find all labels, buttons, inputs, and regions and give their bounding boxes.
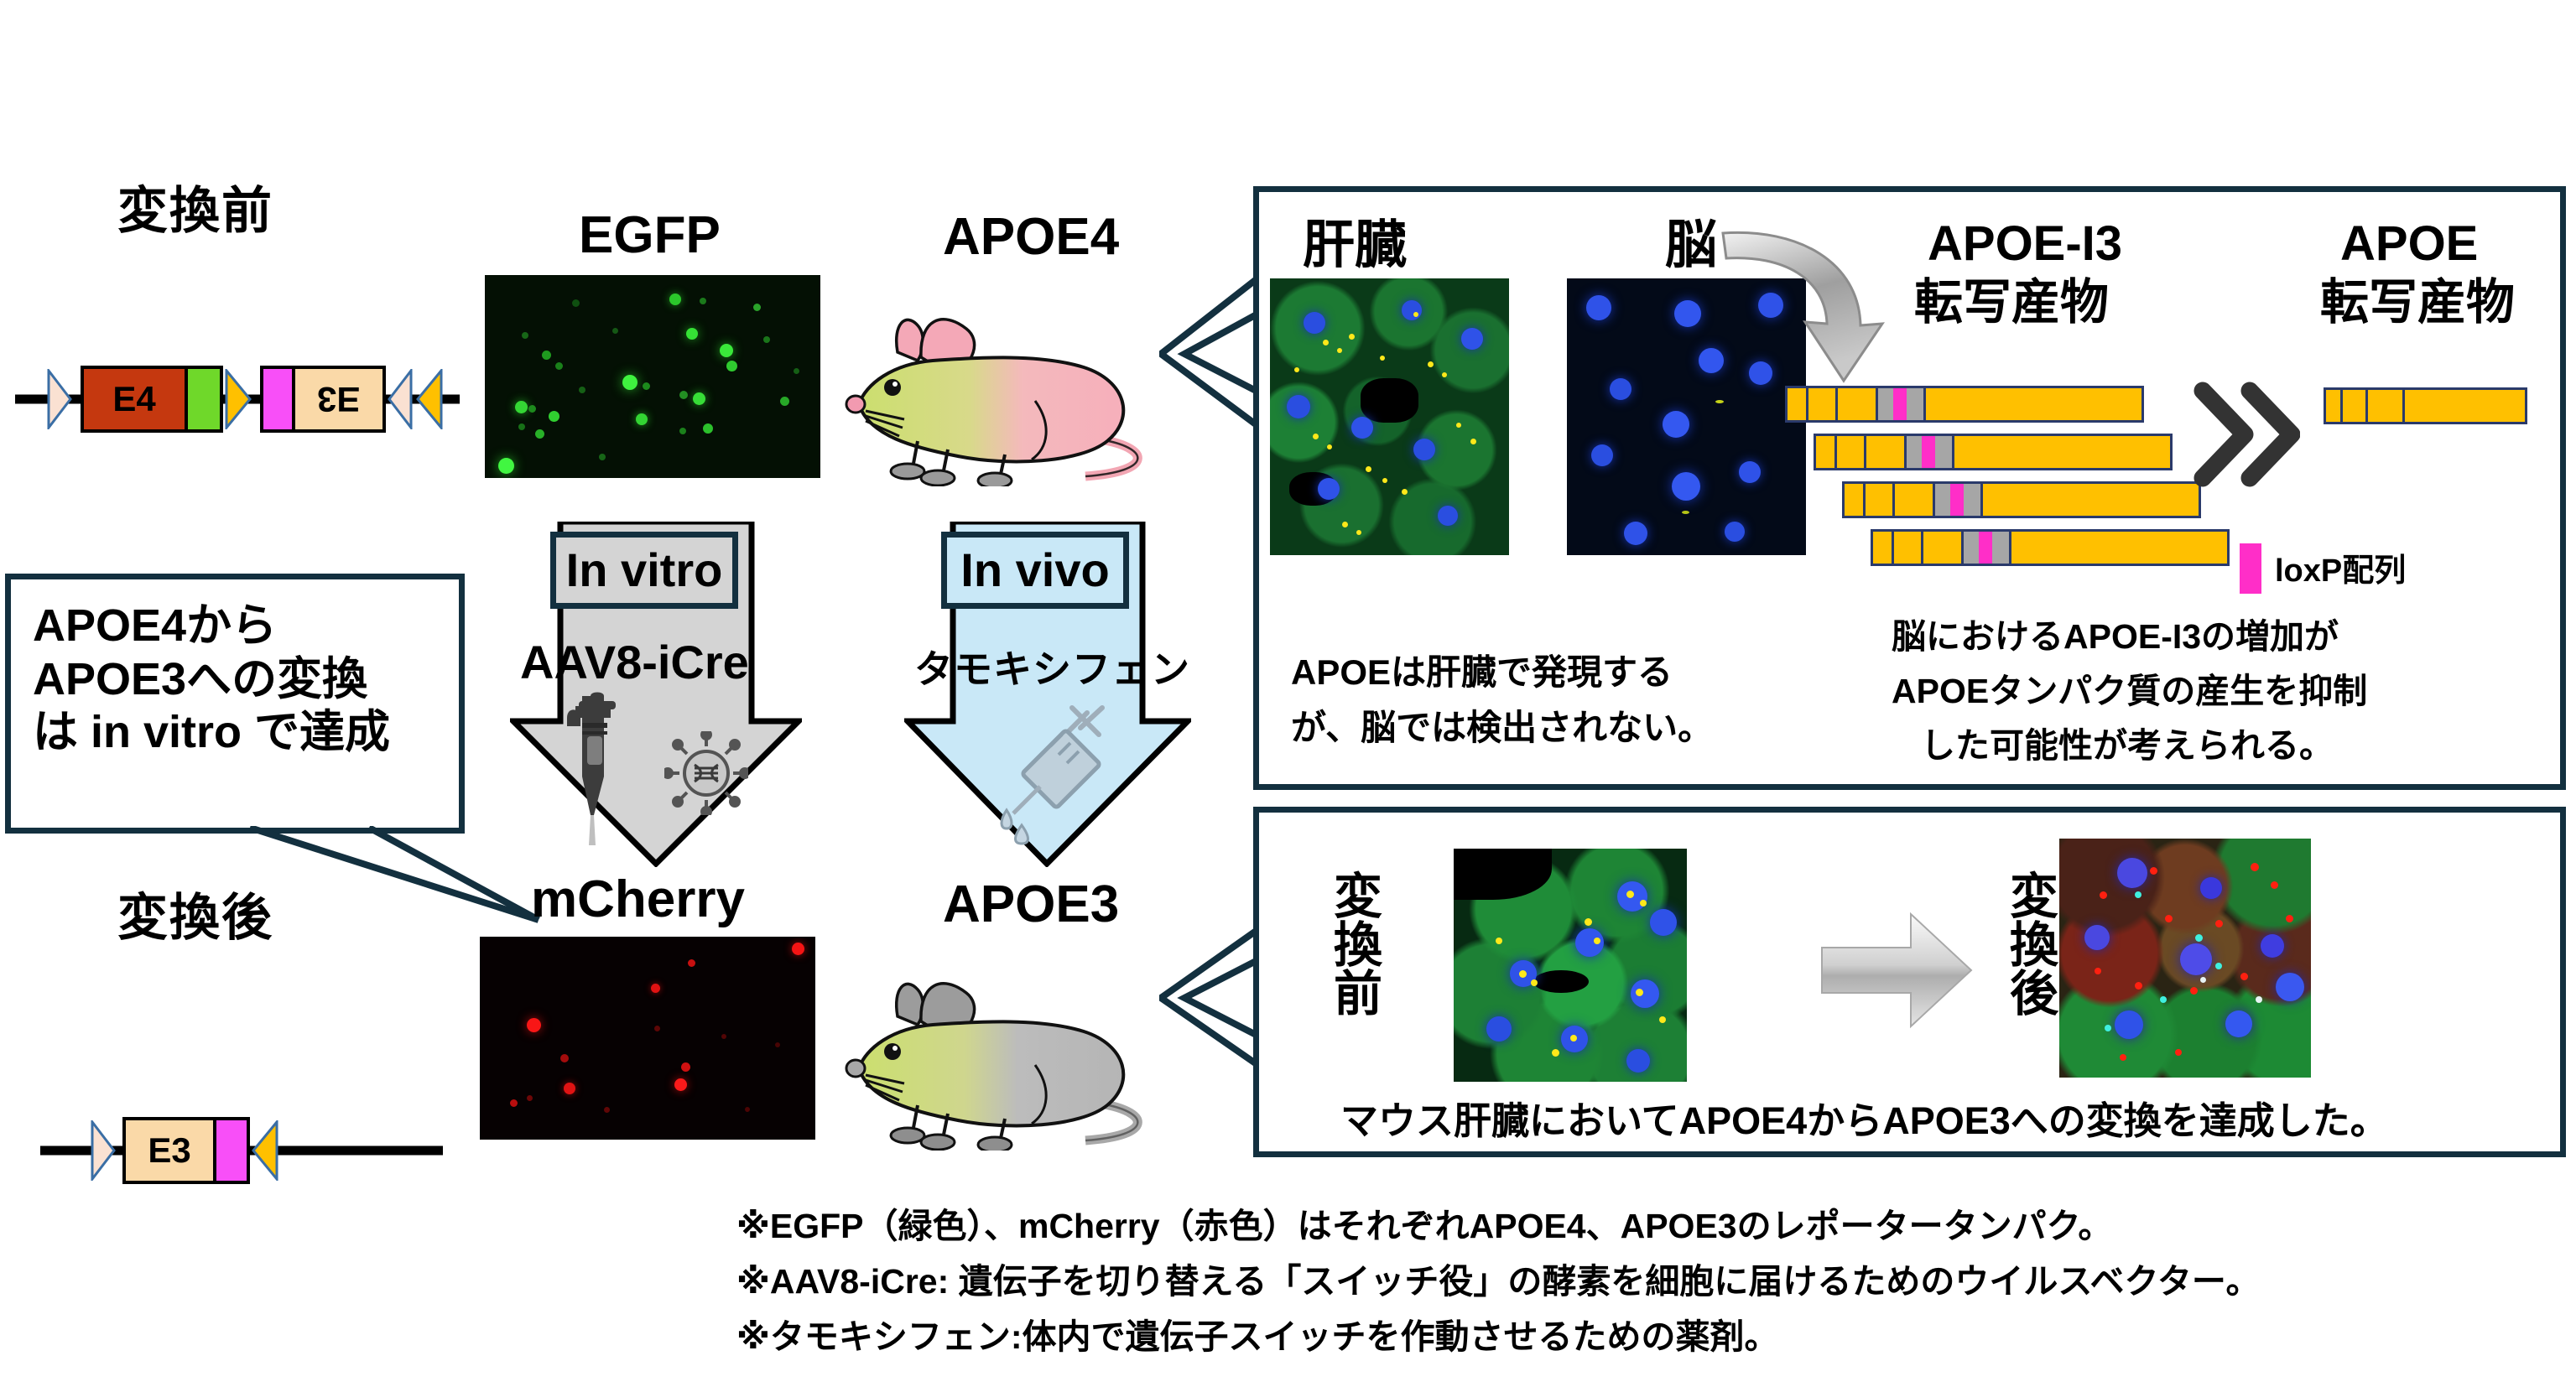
transcript-bar-apoe — [2324, 387, 2527, 424]
badge-in-vitro: In vitro — [550, 532, 738, 609]
callout-line-2: APOE3への変換 — [11, 653, 459, 707]
pipette-icon — [560, 689, 653, 849]
image-mcherry-fluorescence — [480, 937, 815, 1140]
virus-icon — [664, 731, 748, 815]
caption-apoe-i3-line2: APOEタンパク質の産生を抑制 — [1892, 662, 2367, 713]
image-liver-confocal — [1270, 278, 1509, 555]
loxp-triangle-orange-1 — [225, 369, 252, 429]
exon-e4-label: E4 — [112, 382, 155, 417]
footnote-2: ※AAV8-iCre: 遺伝子を切り替える「スイッチ役」の酵素を細胞に届けるため… — [736, 1256, 2260, 1308]
caption-apoe-liver-line1: APOEは肝臓で発現する — [1291, 644, 1673, 695]
curved-arrow-to-transcripts — [1718, 225, 1911, 392]
callout-tail-invitro — [243, 826, 545, 927]
title-apoe-i3-line2: 転写産物 — [1914, 278, 2109, 327]
exon-e3-box-after: E3 — [122, 1117, 216, 1184]
badge-in-vivo: In vivo — [941, 532, 1129, 609]
exon-e3-label-after: E3 — [148, 1133, 190, 1168]
image-liver-after-conversion — [2059, 839, 2311, 1078]
reporter-egfp-segment — [188, 366, 223, 433]
figure-canvas: 変換前 E4 Ǝ3 APOE4から APOE3への — [0, 0, 2576, 1387]
reporter-mcherry-segment — [260, 366, 292, 433]
transcript-bar-4 — [1871, 529, 2230, 566]
label-aav8-icre: AAV8-iCre — [520, 639, 749, 686]
loxp-triangle-orange-after — [252, 1120, 278, 1181]
mouse-apoe4-illustration — [840, 277, 1176, 486]
loxp-legend-swatch — [2240, 543, 2261, 594]
exon-e3-label-inverted: Ǝ3 — [317, 382, 360, 417]
reporter-mcherry-segment-after — [216, 1117, 250, 1184]
callout-line-3: は in vitro で達成 — [11, 706, 459, 760]
label-tamoxifen: タモキシフェン — [914, 639, 1190, 694]
loxp-triangle-cream-2 — [388, 369, 413, 429]
badge-in-vivo-label: In vivo — [960, 547, 1109, 594]
transcript-bar-2 — [1814, 434, 2173, 470]
transcript-bar-1 — [1785, 386, 2144, 423]
title-apoe-line1: APOE — [2340, 220, 2478, 268]
callout-line-1: APOE4から — [11, 579, 459, 653]
mouse-apoe3-illustration — [840, 941, 1176, 1151]
footnote-3: ※タモキシフェン:体内で遺伝子スイッチを作動させるための薬剤。 — [736, 1312, 1779, 1364]
label-after-conversion: 変換後 — [117, 893, 273, 943]
loxp-triangle-cream-after — [91, 1120, 116, 1181]
label-brain: 脳 — [1665, 220, 1717, 272]
image-liver-before-conversion — [1454, 849, 1687, 1082]
callout-invitro-achievement: APOE4から APOE3への変換 は in vitro で達成 — [5, 574, 465, 834]
chevron-double-right-icon — [2191, 376, 2300, 493]
caption-apoe-i3-line1: 脳におけるAPOE-I3の増加が — [1892, 608, 2339, 658]
title-apoe-i3-line1: APOE-I3 — [1928, 220, 2122, 268]
gene-construct-before: E4 Ǝ3 — [15, 359, 460, 439]
footnote-1: ※EGFP（緑色）、mCherry（赤色）はそれぞれAPOE4、APOE3のレポ… — [736, 1201, 2112, 1253]
label-mcherry: mCherry — [531, 874, 745, 926]
exon-e4-box: E4 — [81, 366, 188, 433]
loxp-triangle-cream-1 — [47, 369, 72, 429]
exon-e3-box-inverted: Ǝ3 — [292, 366, 386, 433]
caption-apoe-liver-line2: が、脳では検出されない。 — [1291, 699, 1713, 751]
syringe-icon — [988, 703, 1114, 845]
label-apoe4: APOE4 — [943, 211, 1119, 263]
image-egfp-fluorescence — [485, 275, 820, 478]
loxp-legend-label: loxP配列 — [2275, 555, 2406, 587]
title-apoe-line2: 転写産物 — [2320, 278, 2515, 327]
gene-construct-after: E3 — [40, 1110, 443, 1191]
caption-liver-conversion: マウス肝臓においてAPOE4からAPOE3への変換を達成した。 — [1340, 1090, 2388, 1145]
transcript-bar-3 — [1842, 481, 2201, 518]
label-liver: 肝臓 — [1303, 220, 1407, 272]
loxp-triangle-orange-2 — [416, 369, 443, 429]
caption-apoe-i3-line3: した可能性が考えられる。 — [1921, 717, 2334, 767]
label-before-liver-image: 変換前 — [1329, 870, 1377, 1016]
conversion-arrow-3d — [1820, 911, 1973, 1030]
label-apoe3: APOE3 — [943, 879, 1119, 931]
label-before-conversion: 変換前 — [117, 186, 273, 236]
badge-in-vitro-label: In vitro — [566, 547, 723, 594]
label-after-liver-image: 変換後 — [2005, 870, 2053, 1016]
label-egfp: EGFP — [579, 210, 721, 262]
